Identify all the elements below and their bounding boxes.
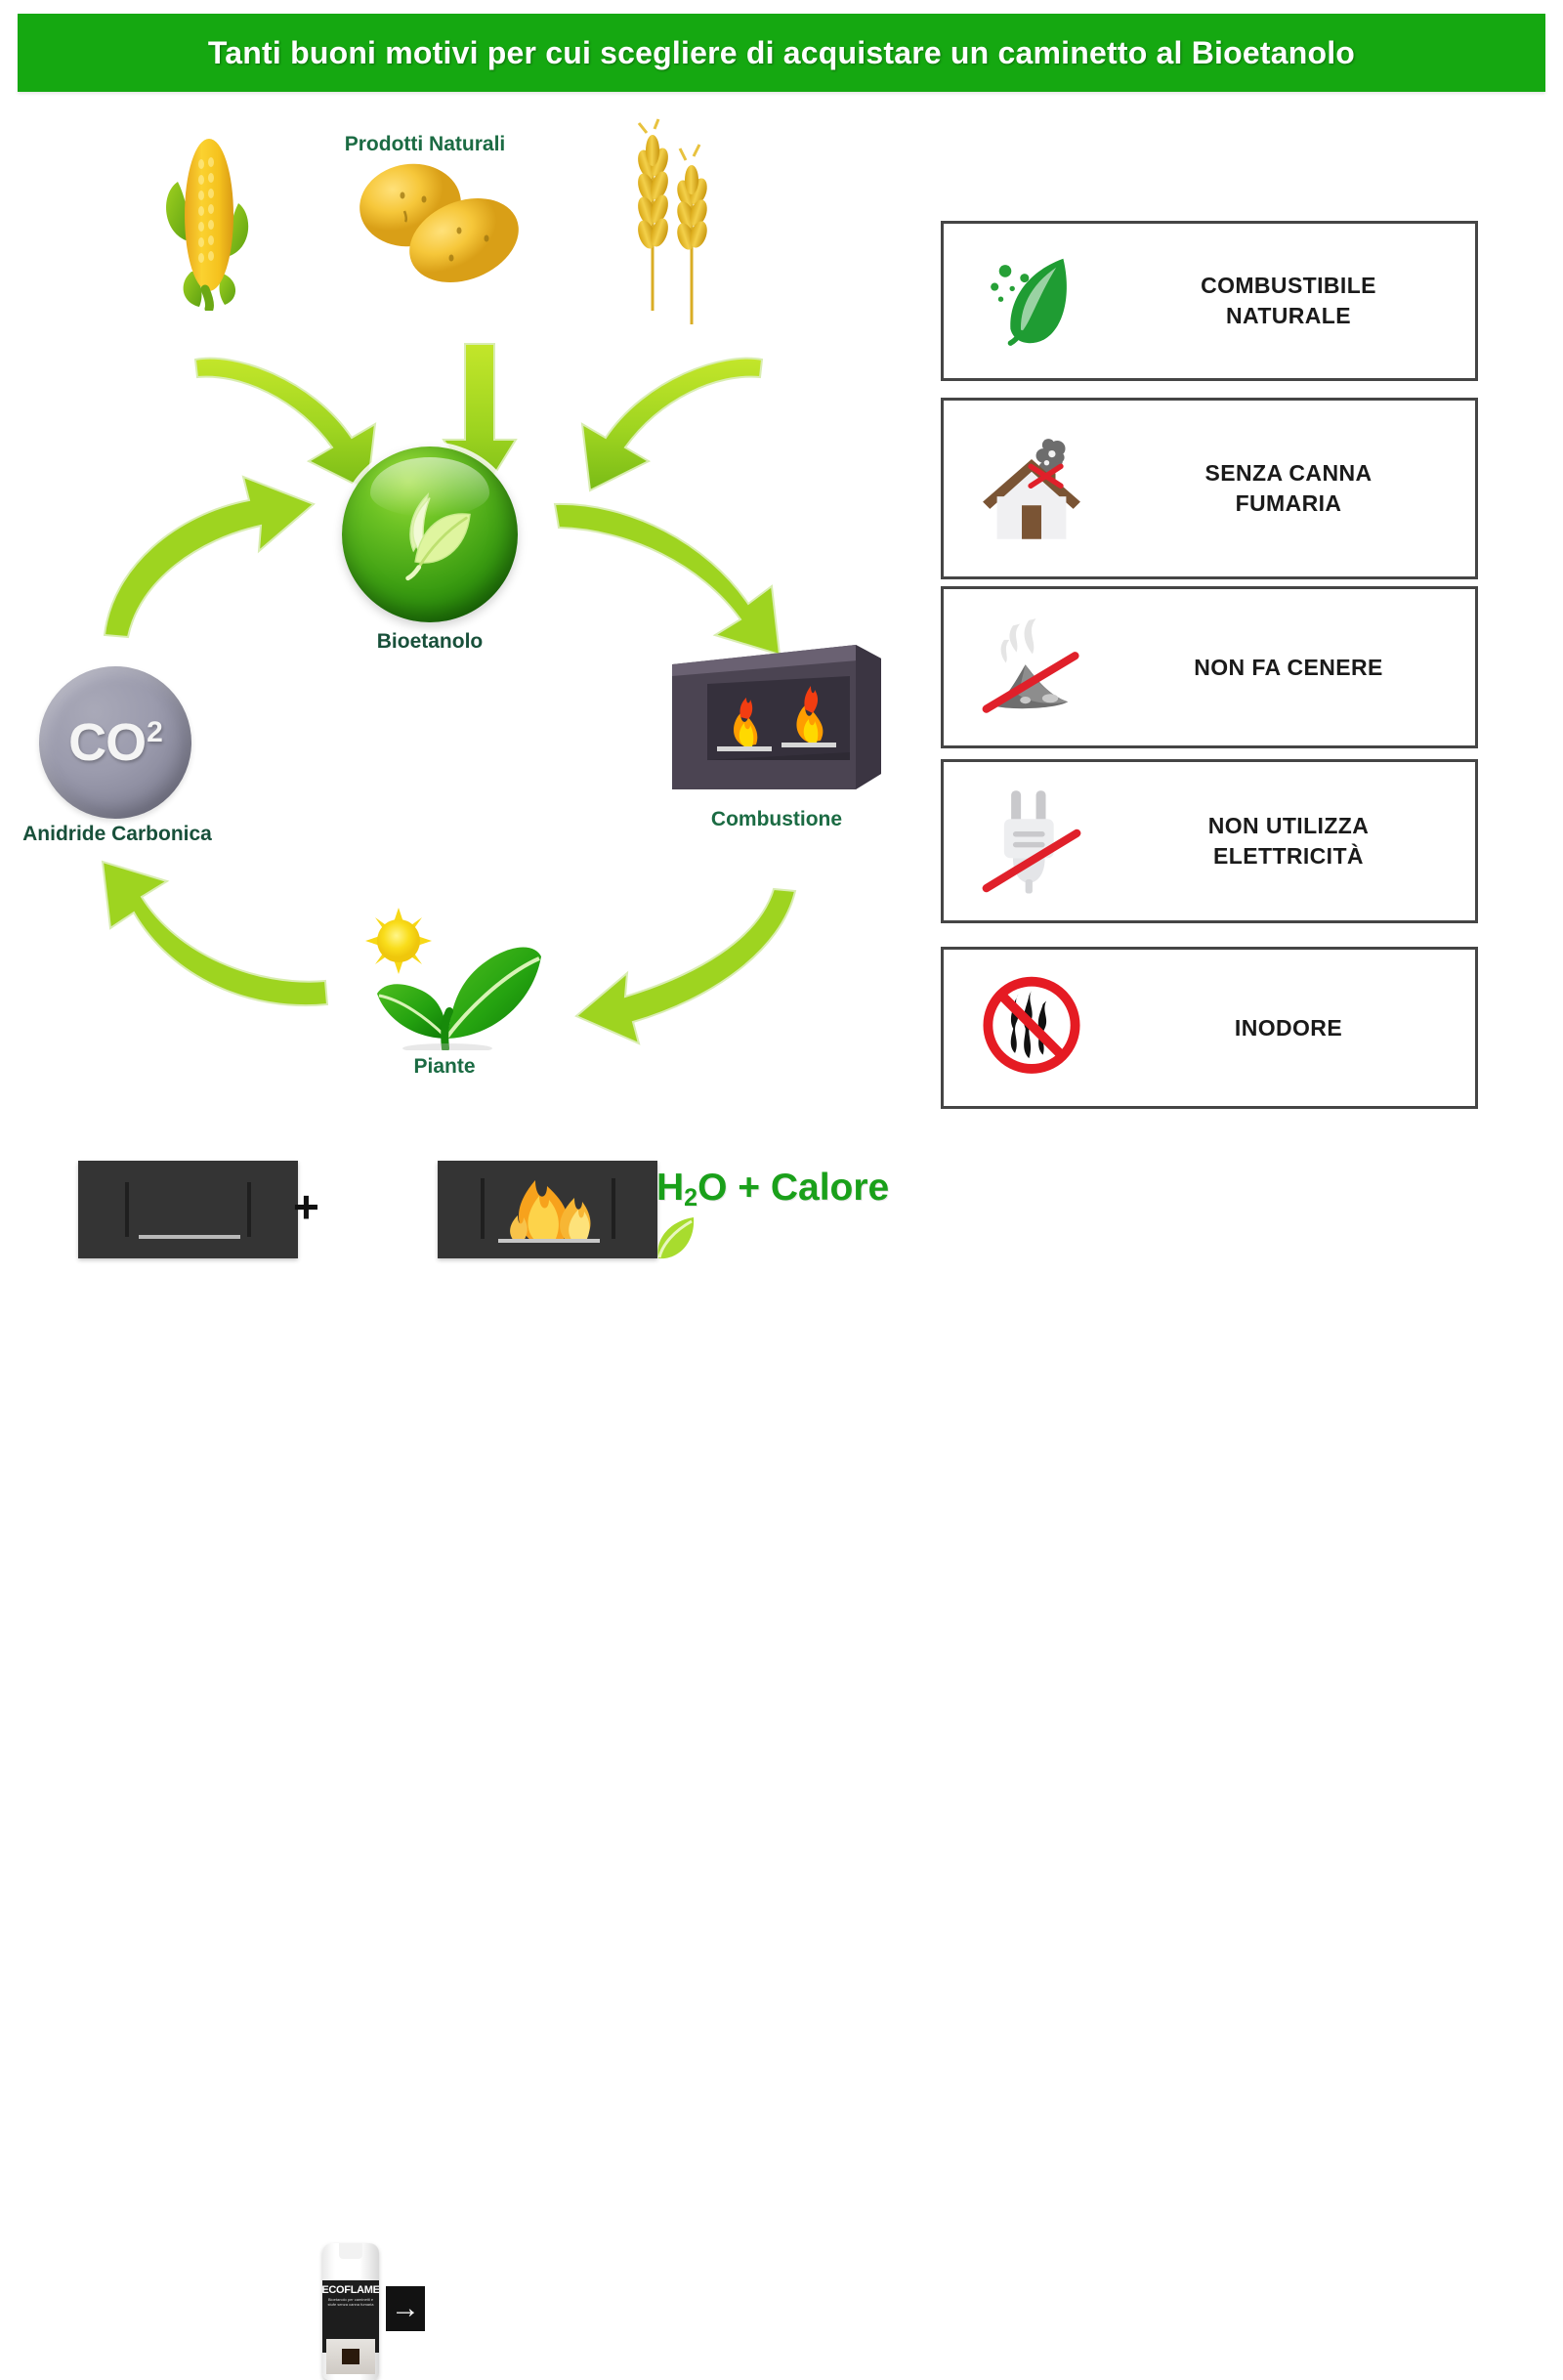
arrow-co2-to-bioethanol	[83, 449, 366, 645]
feature-line: NON UTILIZZA	[1119, 811, 1457, 841]
feature-line: FUMARIA	[1119, 489, 1457, 519]
feature-label-inodore: INODORE	[1119, 1013, 1475, 1043]
h2o-suffix: O + Calore	[697, 1167, 889, 1209]
header-banner: Tanti buoni motivi per cui scegliere di …	[18, 14, 1545, 92]
feature-label-combustibile-naturale: COMBUSTIBILE NATURALE	[1119, 271, 1475, 331]
feature-box-senza-canna-fumaria[interactable]: SENZA CANNA FUMARIA	[941, 398, 1478, 579]
wheat-icon	[625, 115, 733, 330]
sun-icon	[365, 908, 432, 974]
cycle-label-piante: Piante	[322, 1055, 567, 1079]
feature-line: NON FA CENERE	[1119, 653, 1457, 683]
feature-line: INODORE	[1119, 1013, 1457, 1043]
leaf-icon	[649, 1211, 701, 1270]
bottle-subtitle-text: Bioetanolo per caminetti e stufe senza c…	[322, 2296, 379, 2308]
arrow-combustion-to-plants	[557, 860, 840, 1045]
empty-fireplace-icon	[78, 1161, 298, 1258]
arrow-glyph: →	[391, 2294, 420, 2323]
feature-line: SENZA CANNA	[1119, 458, 1457, 489]
bottle-cap-icon	[339, 2243, 362, 2259]
feature-box-non-utilizza-elettricita[interactable]: NON UTILIZZA ELETTRICITÀ	[941, 759, 1478, 923]
feature-label-senza-canna-fumaria: SENZA CANNA FUMARIA	[1119, 458, 1475, 519]
leaf-bubbles-icon	[944, 224, 1119, 378]
co2-formula: CO2	[68, 716, 162, 769]
water-and-heat-label: H2O + Calore	[656, 1167, 889, 1210]
bottle-brand-text: ECOFLAME	[322, 2284, 379, 2296]
co2-sphere-icon: CO2	[39, 666, 191, 819]
corn-icon	[156, 125, 264, 311]
feature-box-inodore[interactable]: INODORE	[941, 947, 1478, 1109]
fireplace-icon	[664, 637, 889, 803]
feature-label-non-fa-cenere: NON FA CENERE	[1119, 653, 1475, 683]
co2-superscript: 2	[147, 716, 162, 748]
feature-line: ELETTRICITÀ	[1119, 841, 1457, 871]
bottom-process-strip: + → ECOFLAME Bioetanolo per caminetti e …	[0, 1124, 977, 1283]
burning-fireplace-icon	[438, 1161, 657, 1258]
potatoes-icon	[342, 154, 537, 291]
sprout-leaves-icon	[322, 874, 567, 1050]
cycle-label-prodotti-naturali: Prodotti Naturali	[244, 133, 606, 156]
no-plug-icon	[944, 762, 1119, 920]
cycle-label-combustione: Combustione	[645, 808, 908, 831]
cycle-label-bioetanolo: Bioetanolo	[342, 630, 518, 654]
feature-label-non-utilizza-elettricita: NON UTILIZZA ELETTRICITÀ	[1119, 811, 1475, 871]
house-no-chimney-icon	[944, 401, 1119, 576]
bottle-fireplace-photo	[326, 2339, 375, 2374]
feature-line: COMBUSTIBILE	[1119, 271, 1457, 301]
bioethanol-bottle-icon: ECOFLAME Bioetanolo per caminetti e stuf…	[322, 2243, 379, 2380]
no-ash-icon	[944, 589, 1119, 745]
feature-box-combustibile-naturale[interactable]: COMBUSTIBILE NATURALE	[941, 221, 1478, 381]
cycle-label-anidride-carbonica: Anidride Carbonica	[10, 823, 225, 846]
no-smell-icon	[944, 950, 1119, 1106]
arrow-plants-to-co2	[83, 840, 347, 1026]
h2o-subscript: 2	[684, 1184, 697, 1211]
arrow-right-icon: →	[386, 2286, 425, 2331]
feature-line: NATURALE	[1119, 301, 1457, 331]
feature-box-non-fa-cenere[interactable]: NON FA CENERE	[941, 586, 1478, 748]
bioethanol-leaf-sphere-icon	[342, 446, 518, 622]
page-title: Tanti buoni motivi per cui scegliere di …	[208, 35, 1355, 71]
plus-sign: +	[293, 1184, 319, 1229]
